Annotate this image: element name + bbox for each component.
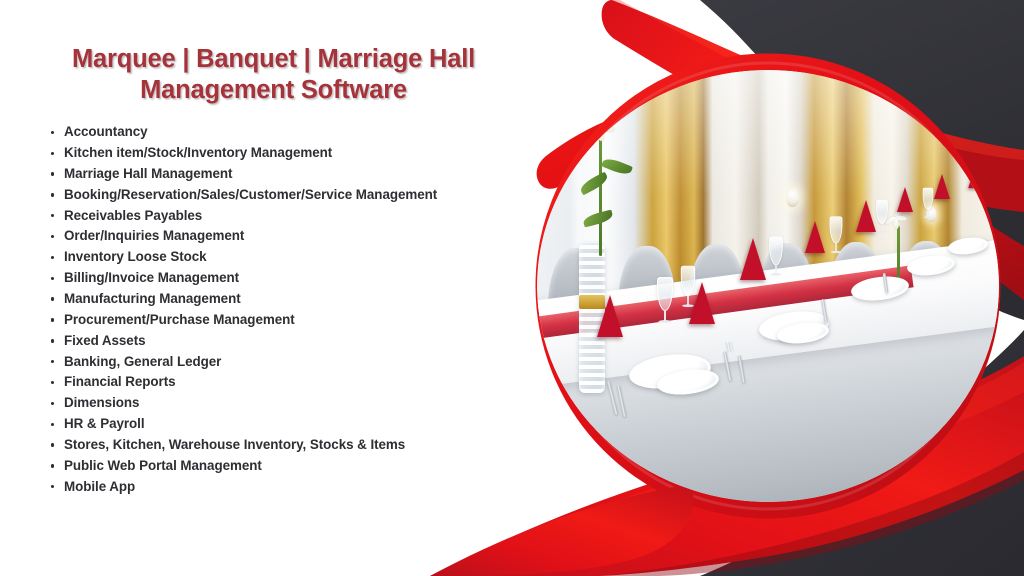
list-item: Mobile App — [64, 477, 545, 498]
list-item: Fixed Assets — [64, 331, 545, 352]
feature-list: Accountancy Kitchen item/Stock/Inventory… — [0, 122, 545, 497]
folded-red-napkin — [897, 187, 913, 212]
bullet-icon — [51, 381, 54, 384]
list-item-label: Receivables Payables — [64, 208, 202, 223]
flower-stem — [599, 126, 602, 256]
list-item: Order/Inquiries Management — [64, 226, 545, 247]
folded-red-napkin — [805, 221, 825, 253]
bullet-icon — [51, 360, 54, 363]
list-item: Public Web Portal Management — [64, 456, 545, 477]
banquet-hall-photo — [537, 70, 999, 502]
list-item-label: Manufacturing Management — [64, 291, 241, 306]
folded-red-napkin — [934, 174, 950, 199]
list-item: Billing/Invoice Management — [64, 268, 545, 289]
list-item: Kitchen item/Stock/Inventory Management — [64, 143, 545, 164]
bullet-icon — [51, 464, 54, 467]
banquet-photo-frame — [537, 70, 999, 502]
folded-red-napkin — [968, 167, 982, 188]
bullet-icon — [51, 214, 54, 217]
list-item-label: Order/Inquiries Management — [64, 228, 244, 243]
list-item-label: Accountancy — [64, 124, 148, 139]
bullet-icon — [51, 172, 54, 175]
list-item: Receivables Payables — [64, 206, 545, 227]
bullet-icon — [51, 402, 54, 405]
list-item-label: Public Web Portal Management — [64, 458, 262, 473]
list-item-label: Banking, General Ledger — [64, 354, 221, 369]
list-item: Dimensions — [64, 393, 545, 414]
page-title: Marquee | Banquet | Marriage Hall Manage… — [0, 44, 545, 106]
list-item-label: Kitchen item/Stock/Inventory Management — [64, 145, 332, 160]
list-item: Booking/Reservation/Sales/Customer/Servi… — [64, 185, 545, 206]
bullet-icon — [51, 131, 54, 134]
bullet-icon — [51, 423, 54, 426]
list-item-label: HR & Payroll — [64, 416, 145, 431]
lily-flower — [588, 109, 622, 135]
bullet-icon — [51, 339, 54, 342]
list-item: Inventory Loose Stock — [64, 247, 545, 268]
list-item: Accountancy — [64, 122, 545, 143]
list-item-label: Procurement/Purchase Management — [64, 312, 295, 327]
page-title-line-2: Management Software — [140, 76, 407, 104]
list-item-label: Booking/Reservation/Sales/Customer/Servi… — [64, 187, 437, 202]
bullet-icon — [51, 193, 54, 196]
list-item-label: Fixed Assets — [64, 333, 146, 348]
text-content-column: Marquee | Banquet | Marriage Hall Manage… — [0, 0, 545, 497]
bullet-icon — [51, 152, 54, 155]
bullet-icon — [51, 277, 54, 280]
bullet-icon — [51, 235, 54, 238]
list-item: Banking, General Ledger — [64, 352, 545, 373]
list-item-label: Billing/Invoice Management — [64, 270, 239, 285]
bullet-icon — [51, 318, 54, 321]
folded-red-napkin — [856, 200, 876, 232]
slide-canvas: Marquee | Banquet | Marriage Hall Manage… — [0, 0, 1024, 576]
folded-red-napkin — [740, 238, 766, 280]
list-item-label: Financial Reports — [64, 374, 176, 389]
list-item-label: Stores, Kitchen, Warehouse Inventory, St… — [64, 437, 405, 452]
list-item-label: Marriage Hall Management — [64, 166, 232, 181]
bullet-icon — [51, 297, 54, 300]
list-item: Manufacturing Management — [64, 289, 545, 310]
list-item: HR & Payroll — [64, 414, 545, 435]
bullet-icon — [51, 485, 54, 488]
bullet-icon — [51, 256, 54, 259]
list-item-label: Dimensions — [64, 395, 139, 410]
folded-red-napkin — [597, 295, 623, 337]
list-item: Procurement/Purchase Management — [64, 310, 545, 331]
list-item-label: Mobile App — [64, 479, 135, 494]
bullet-icon — [51, 443, 54, 446]
list-item: Financial Reports — [64, 372, 545, 393]
list-item: Marriage Hall Management — [64, 164, 545, 185]
list-item-label: Inventory Loose Stock — [64, 249, 207, 264]
list-item: Stores, Kitchen, Warehouse Inventory, St… — [64, 435, 545, 456]
page-title-line-1: Marquee | Banquet | Marriage Hall — [72, 45, 475, 73]
